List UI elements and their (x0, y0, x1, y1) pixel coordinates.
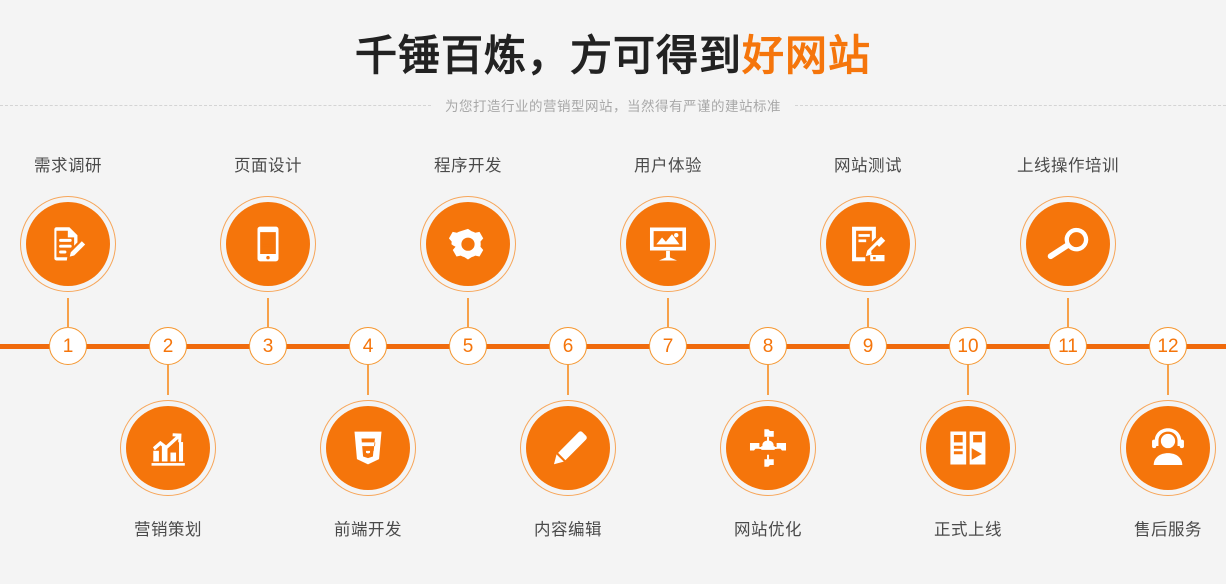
step-icon-bubble-11[interactable] (1020, 196, 1116, 292)
step-icon-bubble-3[interactable] (220, 196, 316, 292)
connector-stem-2 (167, 365, 169, 395)
divider-right (795, 105, 1226, 106)
step-icon-bubble-9[interactable] (820, 196, 916, 292)
process-timeline-page: 千锤百炼，方可得到好网站 为您打造行业的营销型网站，当然得有严谨的建站标准 12… (0, 0, 1226, 584)
divider-left (0, 105, 431, 106)
subtitle-row: 为您打造行业的营销型网站，当然得有严谨的建站标准 (0, 93, 1226, 117)
connector-stem-3 (267, 298, 269, 328)
timeline-node-7[interactable]: 7 (649, 327, 687, 365)
pencil-icon (526, 406, 610, 490)
step-icon-bubble-5[interactable] (420, 196, 516, 292)
connector-stem-7 (667, 298, 669, 328)
timeline-node-number: 1 (63, 337, 74, 356)
timeline-node-number: 12 (1157, 337, 1178, 356)
step-label-5: 程序开发 (358, 152, 578, 176)
connector-stem-12 (1167, 365, 1169, 395)
timeline-node-number: 2 (163, 337, 174, 356)
page-title-accent: 好网站 (742, 32, 871, 79)
step-label-4: 前端开发 (258, 516, 478, 540)
step-label-9: 网站测试 (758, 152, 978, 176)
connector-stem-6 (567, 365, 569, 395)
wrench-icon (1026, 202, 1110, 286)
network-share-icon (726, 406, 810, 490)
timeline-node-3[interactable]: 3 (249, 327, 287, 365)
page-header: 千锤百炼，方可得到好网站 为您打造行业的营销型网站，当然得有严谨的建站标准 (0, 0, 1226, 130)
step-label-6: 内容编辑 (458, 516, 678, 540)
timeline-node-11[interactable]: 11 (1049, 327, 1087, 365)
document-edit-icon (26, 202, 110, 286)
timeline-node-number: 11 (1058, 337, 1078, 356)
timeline-node-6[interactable]: 6 (549, 327, 587, 365)
connector-stem-5 (467, 298, 469, 328)
timeline-node-number: 5 (463, 337, 474, 356)
timeline-node-number: 3 (263, 337, 274, 356)
publish-play-icon (926, 406, 1010, 490)
step-icon-bubble-10[interactable] (920, 400, 1016, 496)
timeline-node-number: 10 (957, 337, 978, 356)
step-icon-bubble-8[interactable] (720, 400, 816, 496)
connector-stem-1 (67, 298, 69, 328)
headset-support-icon (1126, 406, 1210, 490)
step-icon-bubble-2[interactable] (120, 400, 216, 496)
step-label-7: 用户体验 (558, 152, 778, 176)
connector-stem-11 (1067, 298, 1069, 328)
timeline-node-12[interactable]: 12 (1149, 327, 1187, 365)
step-icon-bubble-6[interactable] (520, 400, 616, 496)
step-icon-bubble-12[interactable] (1120, 400, 1216, 496)
step-label-8: 网站优化 (658, 516, 878, 540)
step-icon-bubble-7[interactable] (620, 196, 716, 292)
step-label-2: 营销策划 (58, 516, 278, 540)
step-label-11: 上线操作培训 (958, 152, 1178, 176)
step-icon-bubble-1[interactable] (20, 196, 116, 292)
page-subtitle: 为您打造行业的营销型网站，当然得有严谨的建站标准 (431, 95, 795, 115)
connector-stem-9 (867, 298, 869, 328)
mobile-phone-icon (226, 202, 310, 286)
timeline-node-number: 9 (863, 337, 874, 356)
step-label-3: 页面设计 (158, 152, 378, 176)
step-label-1: 需求调研 (0, 152, 178, 176)
step-icon-bubble-4[interactable] (320, 400, 416, 496)
timeline-node-number: 4 (363, 337, 374, 356)
connector-stem-10 (967, 365, 969, 395)
gear-icon (426, 202, 510, 286)
presentation-icon (626, 202, 710, 286)
timeline-node-5[interactable]: 5 (449, 327, 487, 365)
timeline-node-9[interactable]: 9 (849, 327, 887, 365)
growth-chart-icon (126, 406, 210, 490)
connector-stem-4 (367, 365, 369, 395)
timeline-node-8[interactable]: 8 (749, 327, 787, 365)
html5-shield-icon (326, 406, 410, 490)
timeline-node-number: 7 (663, 337, 674, 356)
timeline-node-4[interactable]: 4 (349, 327, 387, 365)
timeline-node-1[interactable]: 1 (49, 327, 87, 365)
timeline-node-number: 6 (563, 337, 574, 356)
connector-stem-8 (767, 365, 769, 395)
timeline-node-10[interactable]: 10 (949, 327, 987, 365)
step-label-12: 售后服务 (1058, 516, 1226, 540)
step-label-10: 正式上线 (858, 516, 1078, 540)
page-title: 千锤百炼，方可得到好网站 (0, 22, 1226, 83)
page-title-main: 千锤百炼，方可得到 (355, 32, 742, 79)
test-report-icon (826, 202, 910, 286)
timeline-node-2[interactable]: 2 (149, 327, 187, 365)
timeline-node-number: 8 (763, 337, 774, 356)
